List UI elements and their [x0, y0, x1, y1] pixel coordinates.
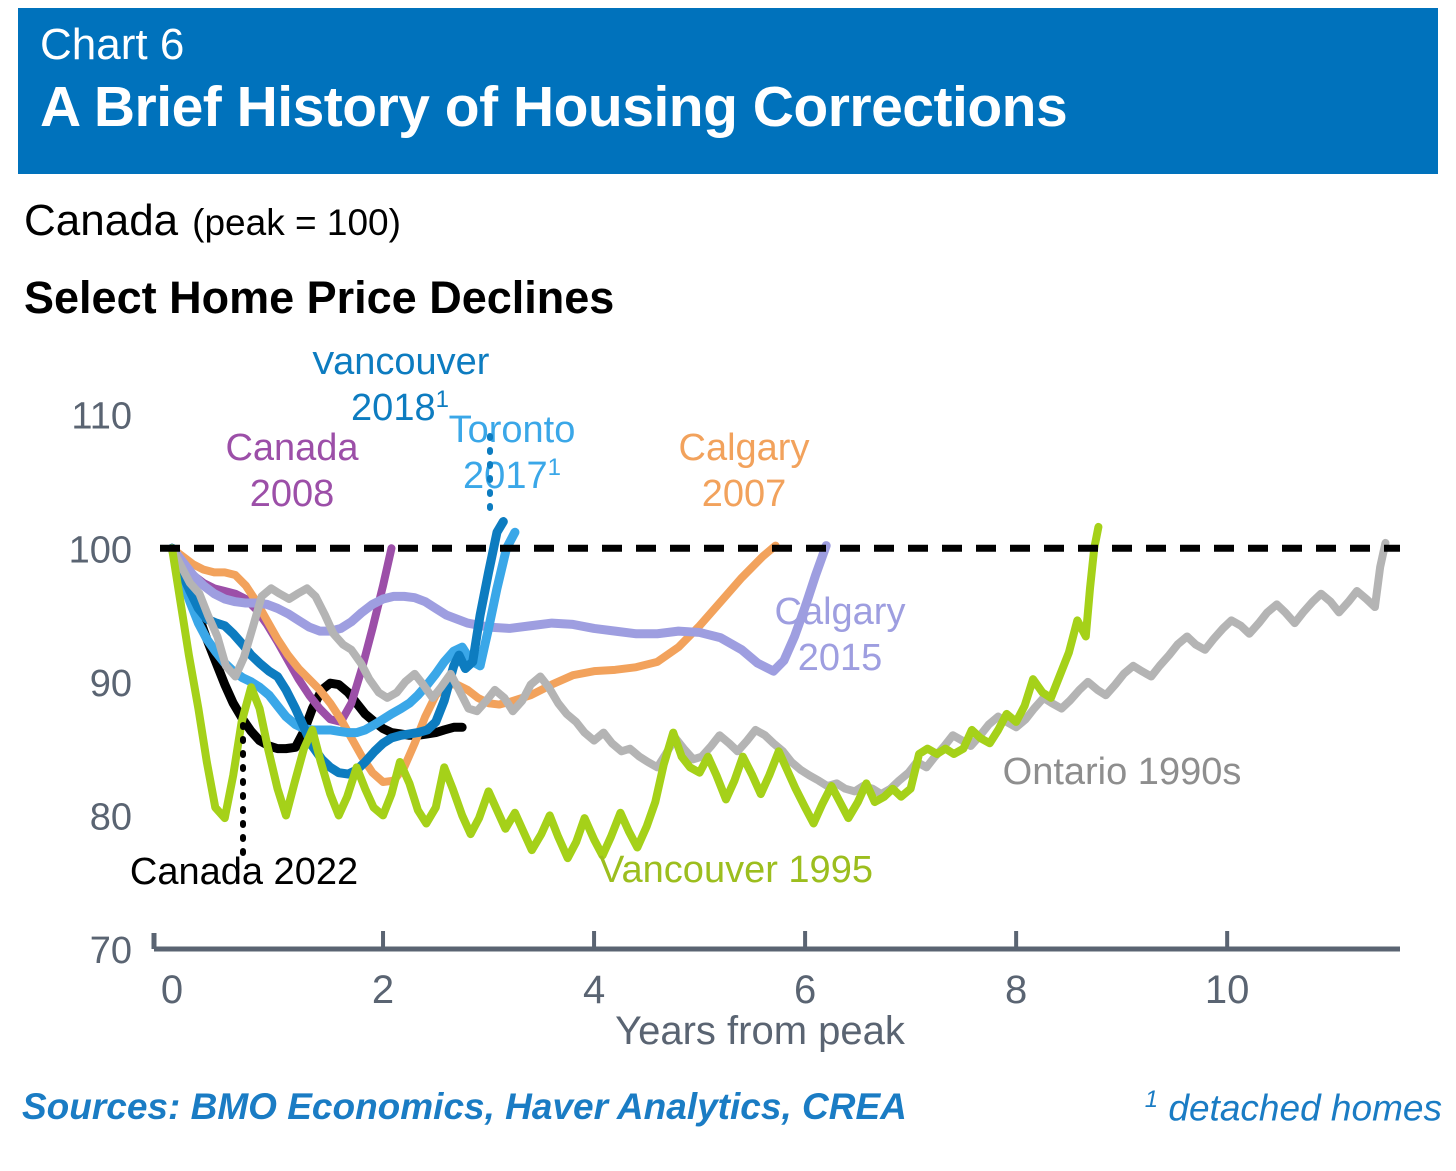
- y-tick-label-110: 110: [71, 396, 132, 438]
- line-chart-svg: 7080901001100246810 Canada2008Vancouver2…: [0, 352, 1456, 1052]
- y-tick-label-80: 80: [90, 796, 132, 838]
- annotation-label-line1: Canada: [225, 427, 359, 469]
- axes-group: [154, 931, 1400, 949]
- x-tick-label-6: 6: [794, 968, 816, 1012]
- y-tick-label-100: 100: [69, 529, 132, 571]
- chart-title: A Brief History of Housing Corrections: [40, 72, 1438, 142]
- region-label: Canada: [24, 196, 178, 245]
- footnote: 1 detached homes: [1145, 1086, 1442, 1129]
- sources-note: Sources: BMO Economics, Haver Analytics,…: [22, 1086, 907, 1128]
- annotation-canada-2022: Canada 2022: [130, 851, 358, 893]
- chart-headline: Select Home Price Declines: [24, 272, 614, 324]
- annotation-label-line2: 2008: [250, 473, 335, 515]
- annotation-label-line1: Calgary: [775, 591, 906, 633]
- y-tick-label-90: 90: [90, 663, 132, 705]
- annotation-label-line2: 20181: [351, 386, 449, 430]
- x-tick-label-0: 0: [161, 968, 183, 1012]
- annotation-ontario-1990s: Ontario 1990s: [1003, 751, 1242, 793]
- header-band: Chart 6 A Brief History of Housing Corre…: [18, 8, 1438, 174]
- annotation-label-line1: Vancouver 1995: [599, 849, 873, 891]
- annotation-toronto-2017: Toronto20171: [449, 409, 576, 497]
- annotation-label-line2: 2007: [702, 473, 787, 515]
- x-tick-label-4: 4: [583, 968, 605, 1012]
- annotation-calgary-2007: Calgary2007: [679, 427, 810, 515]
- units-label: (peak = 100): [192, 202, 401, 243]
- x-tick-label-2: 2: [372, 968, 394, 1012]
- footer: Sources: BMO Economics, Haver Analytics,…: [0, 1086, 1456, 1156]
- chart-number: Chart 6: [40, 18, 1438, 72]
- x-tick-label-8: 8: [1005, 968, 1027, 1012]
- footnote-marker: 1: [1145, 1086, 1158, 1113]
- annotation-label-line1: Canada 2022: [130, 851, 358, 893]
- footnote-text: detached homes: [1168, 1087, 1442, 1128]
- y-tick-label-70: 70: [90, 930, 132, 972]
- chart-figure: Chart 6 A Brief History of Housing Corre…: [0, 0, 1456, 1171]
- annotation-label-line2: 2015: [798, 637, 883, 679]
- annotation-label-line1: Toronto: [449, 409, 576, 451]
- x-tick-label-10: 10: [1205, 968, 1250, 1012]
- annotation-label-line1: Vancouver: [311, 352, 490, 383]
- annotation-vancouver-1995: Vancouver 1995: [599, 849, 873, 891]
- series-group: [172, 522, 1385, 859]
- chart-units-line: Canada(peak = 100): [24, 196, 401, 246]
- plot-area: 7080901001100246810 Canada2008Vancouver2…: [0, 352, 1456, 1052]
- x-axis-title: Years from peak: [615, 1009, 906, 1052]
- annotation-label-line1: Calgary: [679, 427, 810, 469]
- annotation-canada-2008: Canada2008: [225, 427, 359, 515]
- annotation-label-line1: Ontario 1990s: [1003, 751, 1242, 793]
- annotation-label-line2: 20171: [463, 454, 561, 498]
